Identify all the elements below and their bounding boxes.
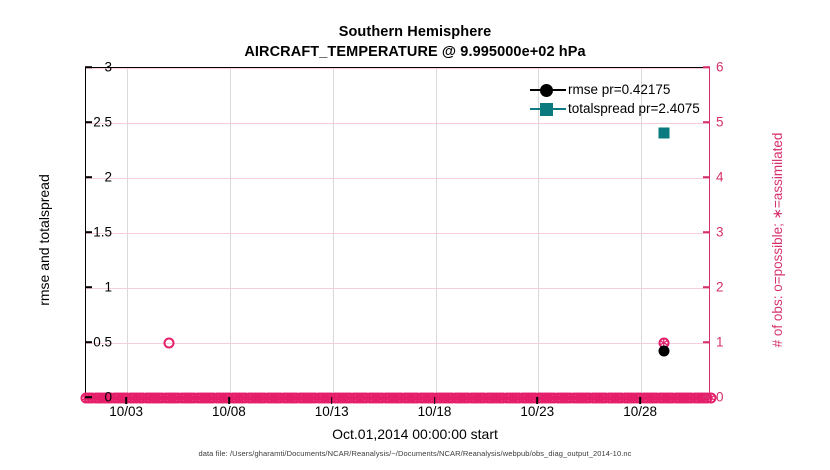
obs-possible-marker bbox=[164, 338, 175, 349]
y-tick-label-left: 3 bbox=[52, 60, 112, 75]
gridline-horizontal bbox=[86, 233, 709, 234]
y-tick-label-right: 1 bbox=[716, 335, 756, 350]
x-tick-label: 10/03 bbox=[81, 404, 171, 419]
legend-marker-circle-icon bbox=[528, 80, 568, 99]
gridline-horizontal bbox=[86, 343, 709, 344]
figure-canvas: Southern Hemisphere AIRCRAFT_TEMPERATURE… bbox=[0, 0, 830, 470]
x-tick-label: 10/08 bbox=[184, 404, 274, 419]
y-tick-label-left: 1.5 bbox=[52, 225, 112, 240]
rmse-data-point bbox=[658, 346, 669, 357]
y-tick-mark-right bbox=[703, 231, 710, 233]
chart-legend: rmse pr=0.42175 totalspread pr=2.4075 bbox=[528, 80, 700, 118]
gridline-horizontal bbox=[86, 68, 709, 69]
y-tick-label-left: 0 bbox=[52, 390, 112, 405]
y-tick-label-right: 3 bbox=[716, 225, 756, 240]
chart-title: Southern Hemisphere bbox=[0, 22, 830, 42]
y-tick-label-right: 2 bbox=[716, 280, 756, 295]
y-tick-label-left: 0.5 bbox=[52, 335, 112, 350]
legend-marker-square-icon bbox=[528, 99, 568, 118]
y-tick-label-left: 1 bbox=[52, 280, 112, 295]
y-tick-mark-right bbox=[703, 286, 710, 288]
legend-label-rmse: rmse pr=0.42175 bbox=[568, 82, 670, 97]
x-tick-label: 10/28 bbox=[595, 404, 685, 419]
x-axis-label: Oct.01,2014 00:00:00 start bbox=[0, 426, 830, 442]
chart-title-block: Southern Hemisphere AIRCRAFT_TEMPERATURE… bbox=[0, 22, 830, 62]
gridline-horizontal bbox=[86, 123, 709, 124]
y-axis-label-left: rmse and totalspread bbox=[36, 100, 52, 380]
legend-item-totalspread[interactable]: totalspread pr=2.4075 bbox=[528, 99, 700, 118]
x-tick-label: 10/18 bbox=[390, 404, 480, 419]
x-tick-mark bbox=[228, 397, 230, 404]
x-tick-mark bbox=[125, 397, 127, 404]
chart-subtitle: AIRCRAFT_TEMPERATURE @ 9.995000e+02 hPa bbox=[0, 42, 830, 62]
y-tick-mark-right bbox=[703, 121, 710, 123]
totalspread-data-point bbox=[658, 127, 669, 138]
legend-label-totalspread: totalspread pr=2.4075 bbox=[568, 101, 700, 116]
x-tick-label: 10/13 bbox=[287, 404, 377, 419]
x-tick-mark bbox=[434, 397, 436, 404]
x-tick-label: 10/23 bbox=[492, 404, 582, 419]
y-tick-mark-right bbox=[703, 396, 710, 398]
y-tick-label-left: 2 bbox=[52, 170, 112, 185]
data-file-note: data file: /Users/gharamti/Documents/NCA… bbox=[0, 449, 830, 458]
x-tick-mark bbox=[537, 397, 539, 404]
y-tick-mark-right bbox=[703, 66, 710, 68]
gridline-horizontal bbox=[86, 178, 709, 179]
gridline-vertical bbox=[333, 68, 334, 396]
gridline-vertical bbox=[230, 68, 231, 396]
y-tick-label-left: 2.5 bbox=[52, 115, 112, 130]
x-tick-mark bbox=[331, 397, 333, 404]
y-tick-label-right: 4 bbox=[716, 170, 756, 185]
gridline-vertical bbox=[436, 68, 437, 396]
y-tick-label-right: 6 bbox=[716, 60, 756, 75]
gridline-horizontal bbox=[86, 288, 709, 289]
gridline-vertical bbox=[127, 68, 128, 396]
legend-item-rmse[interactable]: rmse pr=0.42175 bbox=[528, 80, 700, 99]
y-tick-label-right: 0 bbox=[716, 390, 756, 405]
y-axis-label-right: # of obs: o=possible; ∗=assimilated bbox=[770, 90, 786, 390]
y-tick-mark-right bbox=[703, 341, 710, 343]
y-tick-mark-right bbox=[703, 176, 710, 178]
y-tick-label-right: 5 bbox=[716, 115, 756, 130]
x-tick-mark bbox=[639, 397, 641, 404]
